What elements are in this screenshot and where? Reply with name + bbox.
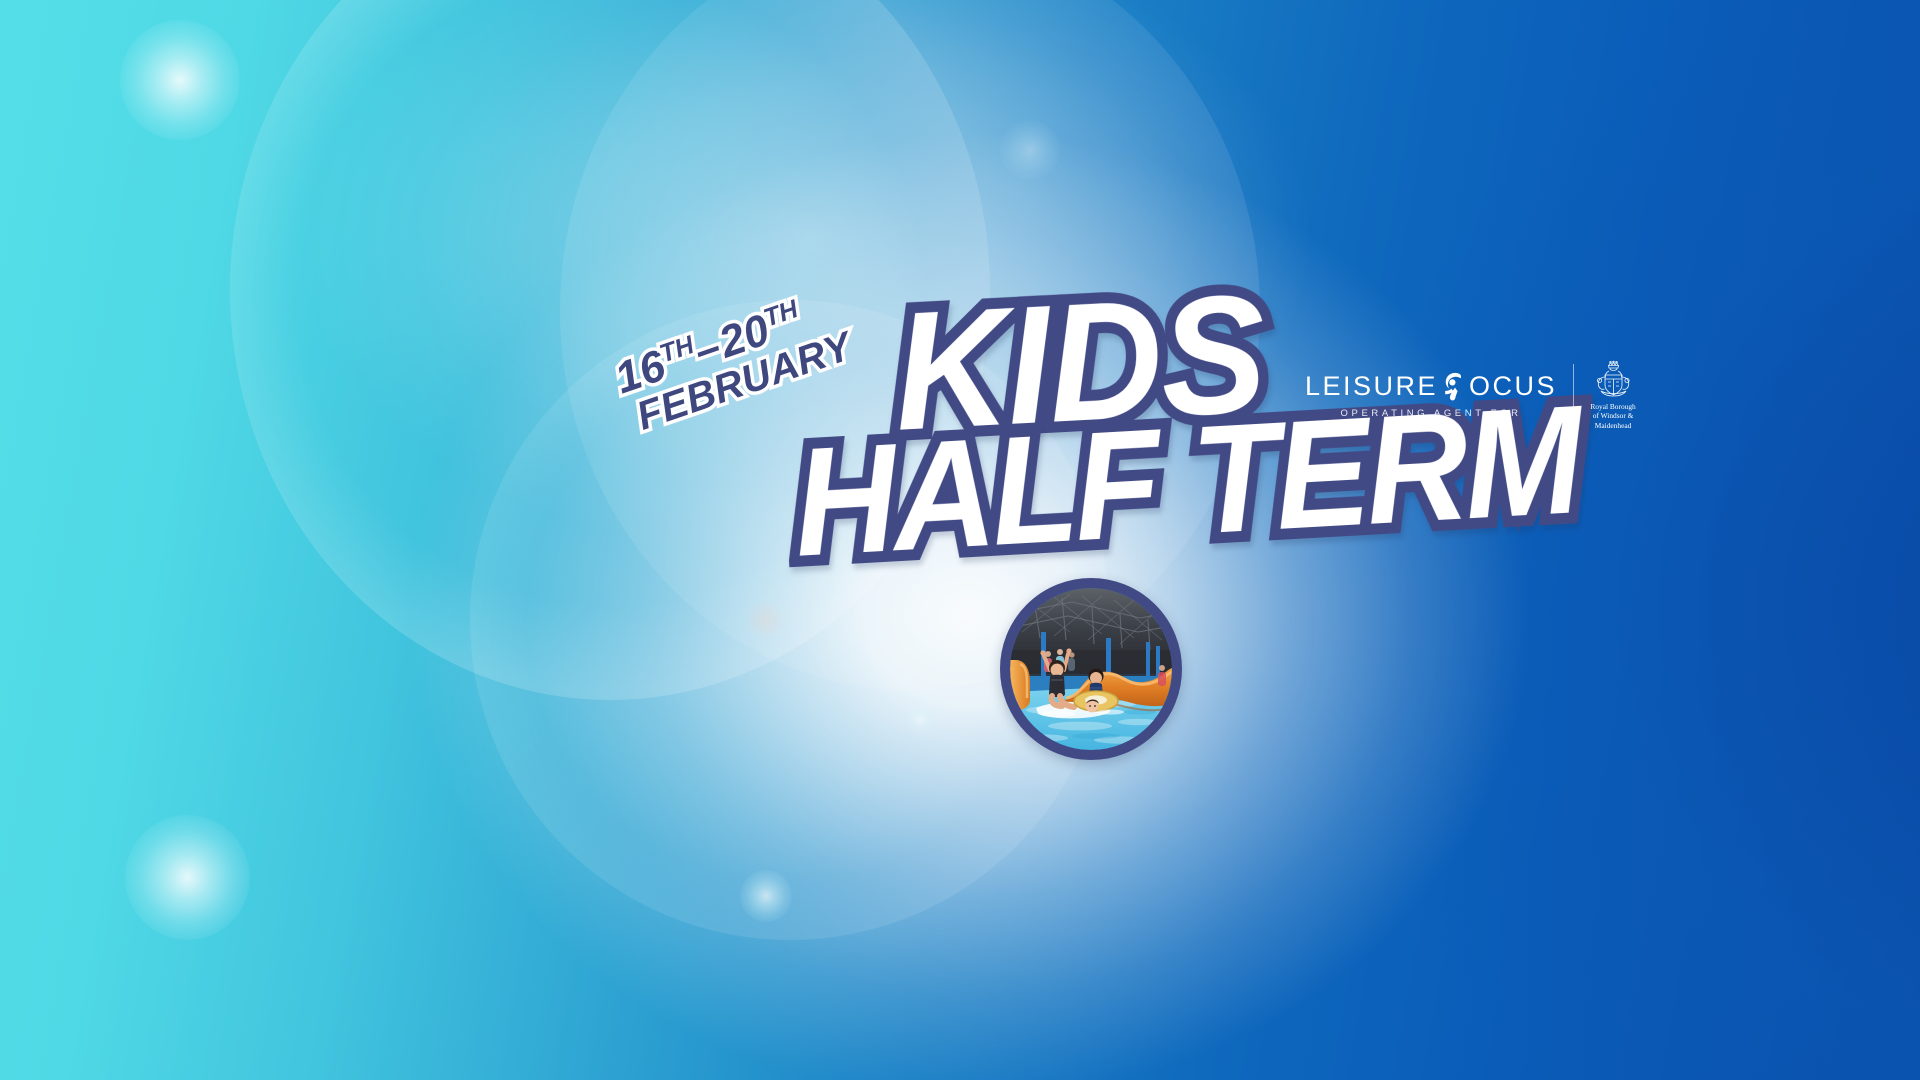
wordmark-focus: OCUS: [1469, 373, 1557, 400]
pool-slide-photo-badge: [1000, 578, 1182, 760]
wordmark-leisure: LEISURE: [1305, 373, 1438, 400]
banner-canvas: 16TH–20TH FEBRUARY KIDS HALF TERM: [0, 0, 1920, 1080]
crest-line-1: Royal Borough: [1590, 402, 1635, 411]
royal-borough-crest: Royal Borough of Windsor & Maidenhead: [1588, 360, 1636, 430]
pool-slide-photo: [1010, 588, 1172, 750]
crest-line-2: of Windsor &: [1590, 411, 1635, 420]
focus-figure-icon: [1442, 371, 1468, 401]
brand-lockup: LEISURE OCUS OPERATING AGENT FOR: [1305, 358, 1636, 432]
crest-icon: [1590, 360, 1636, 400]
crest-caption: Royal Borough of Windsor & Maidenhead: [1590, 402, 1635, 430]
page-title: KIDS HALF TERM: [790, 288, 1490, 588]
brand-tagline: OPERATING AGENT FOR: [1341, 408, 1522, 419]
pool-slide-illustration: [1010, 588, 1172, 750]
banner-content: 16TH–20TH FEBRUARY KIDS HALF TERM: [0, 0, 1920, 1080]
leisure-focus-wordmark: LEISURE OCUS: [1305, 371, 1557, 401]
leisure-focus-logo: LEISURE OCUS OPERATING AGENT FOR: [1305, 371, 1559, 419]
brand-divider: [1573, 364, 1574, 426]
crest-line-3: Maidenhead: [1590, 421, 1635, 430]
